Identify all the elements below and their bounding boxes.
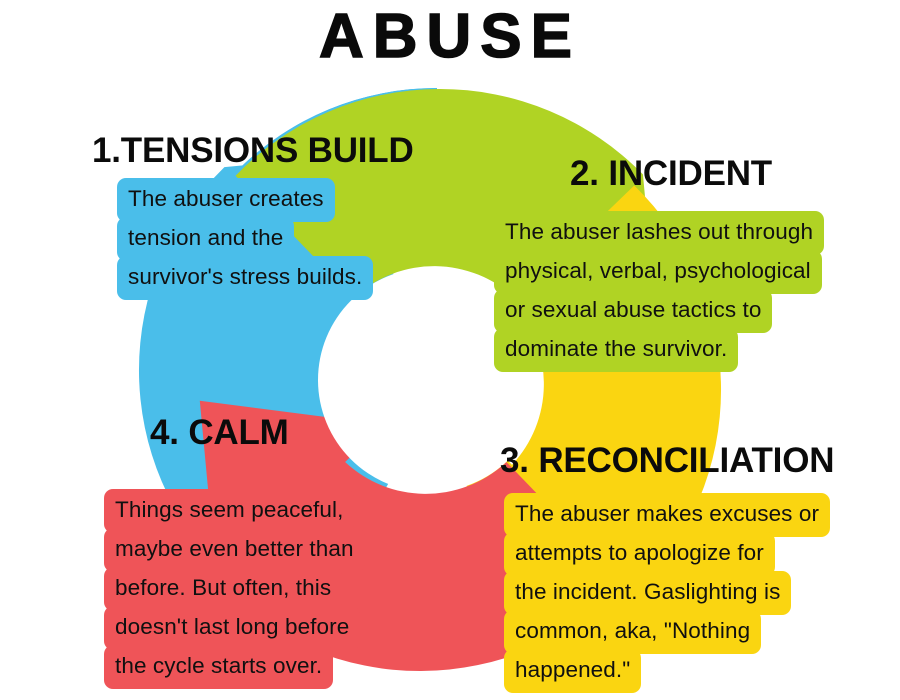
description-line: survivor's stress builds. [117, 256, 373, 300]
stage-4-description: Things seem peaceful, maybe even better … [104, 489, 434, 689]
description-line: Things seem peaceful, [104, 489, 354, 533]
description-line: The abuser makes excuses or [504, 493, 830, 537]
description-line: the incident. Gaslighting is [504, 571, 791, 615]
infographic-canvas: ABUSE 1.TENS [0, 0, 900, 700]
stage-4-heading: 4. CALM [150, 415, 289, 450]
description-line: The abuser creates [117, 178, 335, 222]
stage-3-heading: 3. RECONCILIATION [500, 443, 834, 478]
description-line: tension and the [117, 217, 294, 261]
description-line: the cycle starts over. [104, 645, 333, 689]
stage-2-description: The abuser lashes out through physical, … [494, 211, 886, 372]
description-line: happened." [504, 649, 641, 693]
description-line: dominate the survivor. [494, 328, 738, 372]
stage-1-heading: 1.TENSIONS BUILD [92, 133, 414, 168]
description-line: physical, verbal, psychological [494, 250, 822, 294]
stage-1-description: The abuser creates tension and the survi… [117, 178, 447, 300]
description-line: The abuser lashes out through [494, 211, 824, 255]
description-line: maybe even better than [104, 528, 365, 572]
description-line: doesn't last long before [104, 606, 360, 650]
description-line: or sexual abuse tactics to [494, 289, 772, 333]
stage-2-heading: 2. INCIDENT [570, 156, 772, 191]
description-line: attempts to apologize for [504, 532, 775, 576]
description-line: before. But often, this [104, 567, 342, 611]
description-line: common, aka, "Nothing [504, 610, 761, 654]
stage-3-description: The abuser makes excuses or attempts to … [504, 493, 884, 693]
